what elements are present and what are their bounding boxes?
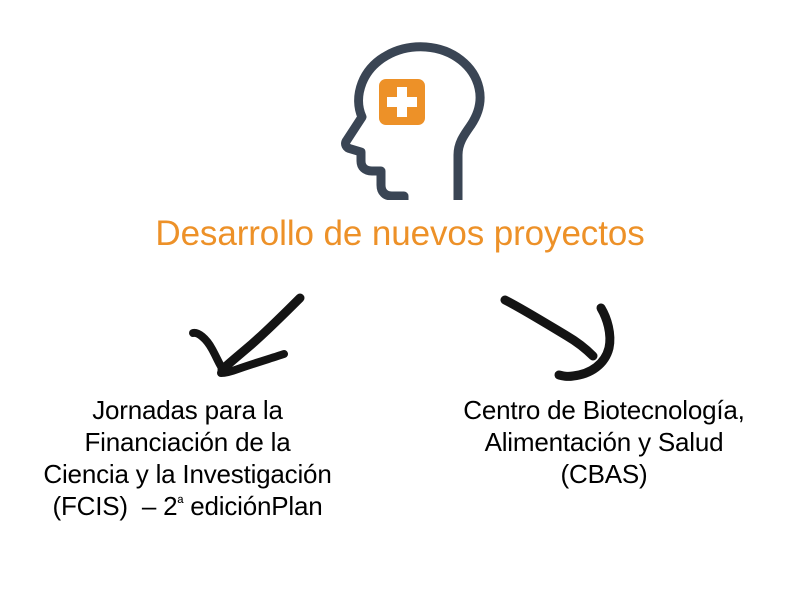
branch-left-line-3: Ciencia y la Investigación bbox=[0, 458, 375, 490]
hand-drawn-arrow-down-right-icon bbox=[495, 288, 645, 388]
branch-right-line-1: Centro de Biotecnología, bbox=[414, 394, 794, 426]
page-title: Desarrollo de nuevos proyectos bbox=[0, 213, 800, 255]
slide-canvas: Desarrollo de nuevos proyectos Jornadas … bbox=[0, 0, 800, 600]
hand-drawn-arrow-down-left-icon bbox=[180, 288, 320, 388]
branch-left-line-4: (FCIS) – 2ª ediciónPlan bbox=[0, 490, 375, 522]
branch-label-left: Jornadas para la Financiación de la Cien… bbox=[0, 394, 375, 522]
head-with-medical-cross-icon bbox=[325, 35, 505, 200]
branch-right-line-2: Alimentación y Salud bbox=[414, 426, 794, 458]
arrow-barb-upper bbox=[193, 333, 224, 371]
branch-left-line-4-head: (FCIS) – 2 bbox=[53, 491, 178, 521]
arrow-shaft bbox=[505, 300, 593, 356]
branch-left-line-2: Financiación de la bbox=[0, 426, 375, 458]
branch-left-line-1: Jornadas para la bbox=[0, 394, 375, 426]
branch-label-right: Centro de Biotecnología, Alimentación y … bbox=[414, 394, 794, 490]
branch-right-line-3: (CBAS) bbox=[414, 458, 794, 490]
branch-left-line-4-tail: ediciónPlan bbox=[183, 491, 322, 521]
arrow-curve bbox=[559, 308, 610, 376]
